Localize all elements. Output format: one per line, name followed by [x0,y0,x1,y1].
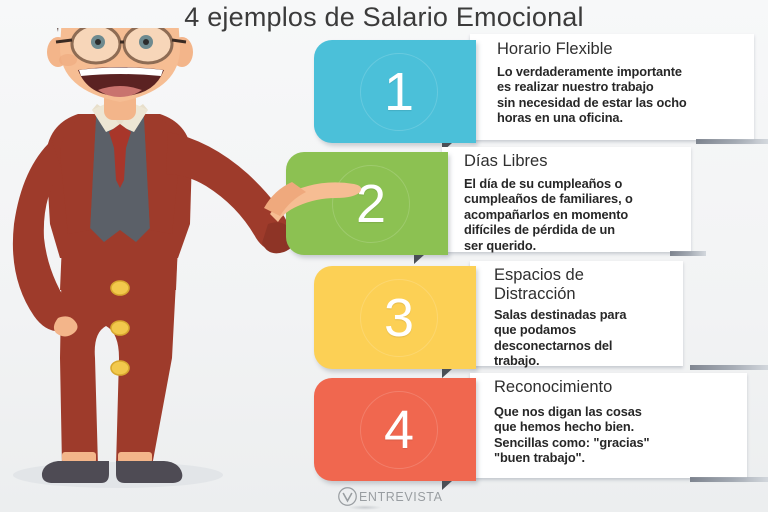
number-ring-4 [360,391,438,469]
card-title-3: Espacios de Distracción [494,266,694,304]
watermark-shadow [348,505,382,510]
card-body-3: Salas destinadas para que podamos descon… [494,307,686,369]
businessman-illustration [0,28,330,498]
circled-v-icon [337,486,358,507]
watermark-logo: ENTREVISTA [337,486,443,507]
card-number-box-3[interactable]: 3 [314,266,476,369]
card-body-1: Lo verdaderamente importante es realizar… [497,64,753,126]
card-pointer-4 [442,481,452,490]
number-ring-1 [360,53,438,131]
card-pointer-3 [442,369,452,378]
card-title-1: Horario Flexible [497,40,747,59]
card-pointer-2 [414,255,424,264]
card-number-box-4[interactable]: 4 [314,378,476,481]
watermark-text: ENTREVISTA [359,490,443,504]
card-body-4: Que nos digan las cosas que hemos hecho … [494,404,744,466]
card-body-2: El día de su cumpleaños o cumpleaños de … [464,176,694,253]
number-ring-3 [360,279,438,357]
card-strip-1 [696,139,768,144]
card-strip-4 [690,477,768,482]
hand-on-box-2 [262,168,382,228]
card-number-box-1[interactable]: 1 [314,40,476,143]
card-strip-3 [690,365,768,370]
card-title-4: Reconocimiento [494,378,742,397]
card-title-2: Días Libres [464,152,690,171]
